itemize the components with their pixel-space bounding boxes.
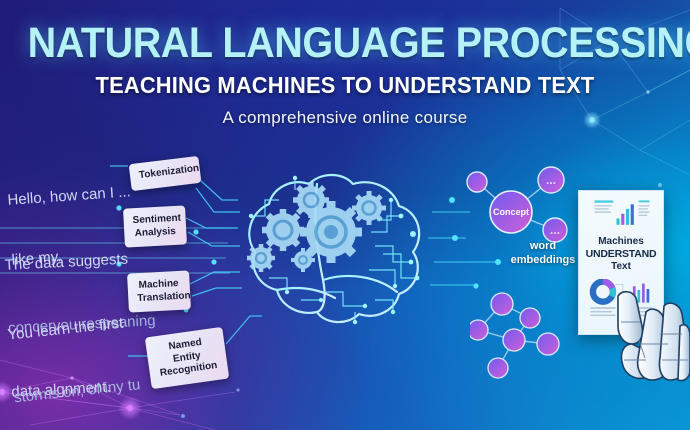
technique-card-sentiment-analysis[interactable]: SentimentAnalysis bbox=[123, 205, 187, 247]
headline-line: Machines bbox=[585, 236, 657, 248]
sample-line: storms on, of iny tu bbox=[13, 371, 172, 409]
caption-line: embeddings bbox=[495, 254, 591, 268]
word-embeddings-caption: word embeddings bbox=[495, 240, 591, 268]
bar-chart-bars bbox=[616, 204, 633, 225]
headline-line: Text bbox=[585, 261, 657, 273]
technique-card-machine-translation[interactable]: MachineTranslation bbox=[127, 270, 191, 312]
doc-card-top-charts bbox=[585, 198, 659, 228]
circuit-brain-illustration bbox=[225, 160, 440, 345]
page-subtitle: TEACHING MACHINES TO UNDERSTAND TEXT bbox=[17, 72, 673, 99]
technique-card-named-entity-recognition[interactable]: Named EntityRecognition bbox=[145, 327, 229, 389]
page-title: NATURAL LANGUAGE PROCESSING (NLP) bbox=[28, 0, 663, 65]
doc-card-headline: Machines UNDERSTAND Text bbox=[585, 236, 657, 273]
concept-node-label: Concept bbox=[493, 207, 529, 217]
poster-canvas: NATURAL LANGUAGE PROCESSING (NLP) TEACHI… bbox=[0, 0, 690, 430]
page-tagline: A comprehensive online course bbox=[0, 108, 690, 128]
poster-header: NATURAL LANGUAGE PROCESSING (NLP) TEACHI… bbox=[0, 0, 690, 128]
caption-line: word bbox=[495, 240, 591, 254]
headline-line: UNDERSTAND bbox=[585, 248, 657, 261]
robot-hand-illustration bbox=[612, 282, 690, 382]
embedding-node-ellipsis: ... bbox=[546, 173, 556, 187]
sample-line: You learn the first bbox=[6, 308, 165, 346]
technique-card-tokenization[interactable]: Tokenization bbox=[129, 156, 202, 191]
embedding-node bbox=[467, 172, 487, 192]
embedding-node-ellipsis: ... bbox=[550, 223, 560, 237]
